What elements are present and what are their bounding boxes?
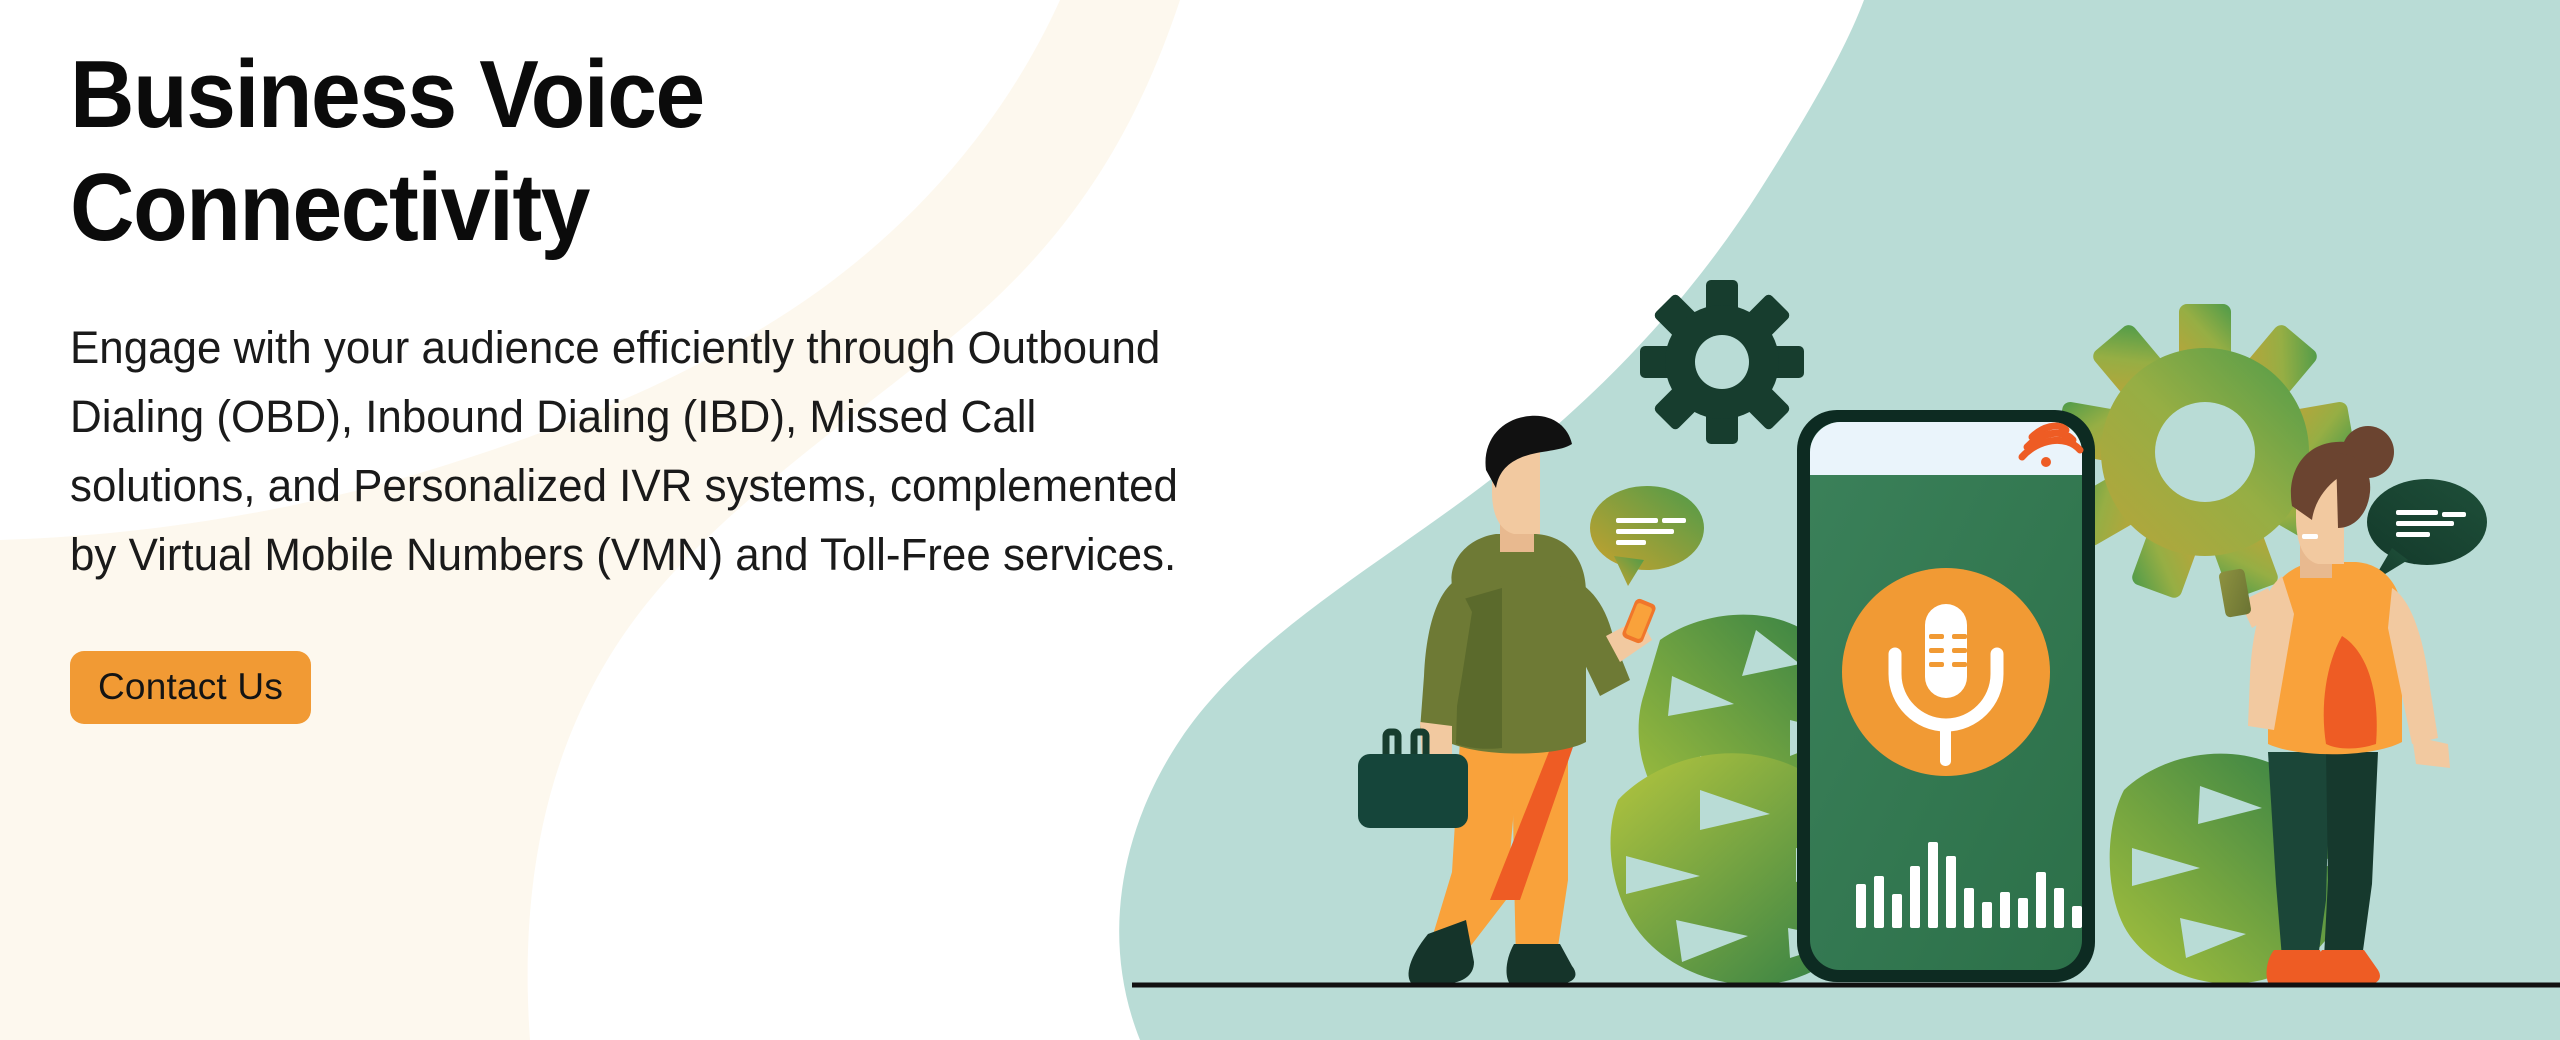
woman-leg-right [2324,752,2378,958]
wifi-icon-dot [2041,457,2051,467]
speech-bubble-right [2367,479,2487,582]
gear-small-dark-icon [1640,280,1804,444]
speech-bubble-left [1590,486,1704,586]
hero-banner: Business Voice Connectivity Engage with … [0,0,2560,1040]
man-shoe-back [1409,920,1474,984]
woman-mouth [2302,534,2318,539]
smartphone [1797,410,2095,982]
contact-us-button[interactable]: Contact Us [70,651,311,724]
hero-text-column: Business Voice Connectivity Engage with … [70,38,1250,724]
page-description: Engage with your audience efficiently th… [70,313,1189,590]
woman-hand-right [2412,736,2450,768]
man-mobile-phone-icon [1621,597,1657,644]
woman-shoe-right [2316,950,2380,986]
page-title: Business Voice Connectivity [70,38,842,265]
man-shoe-front [1507,944,1576,984]
